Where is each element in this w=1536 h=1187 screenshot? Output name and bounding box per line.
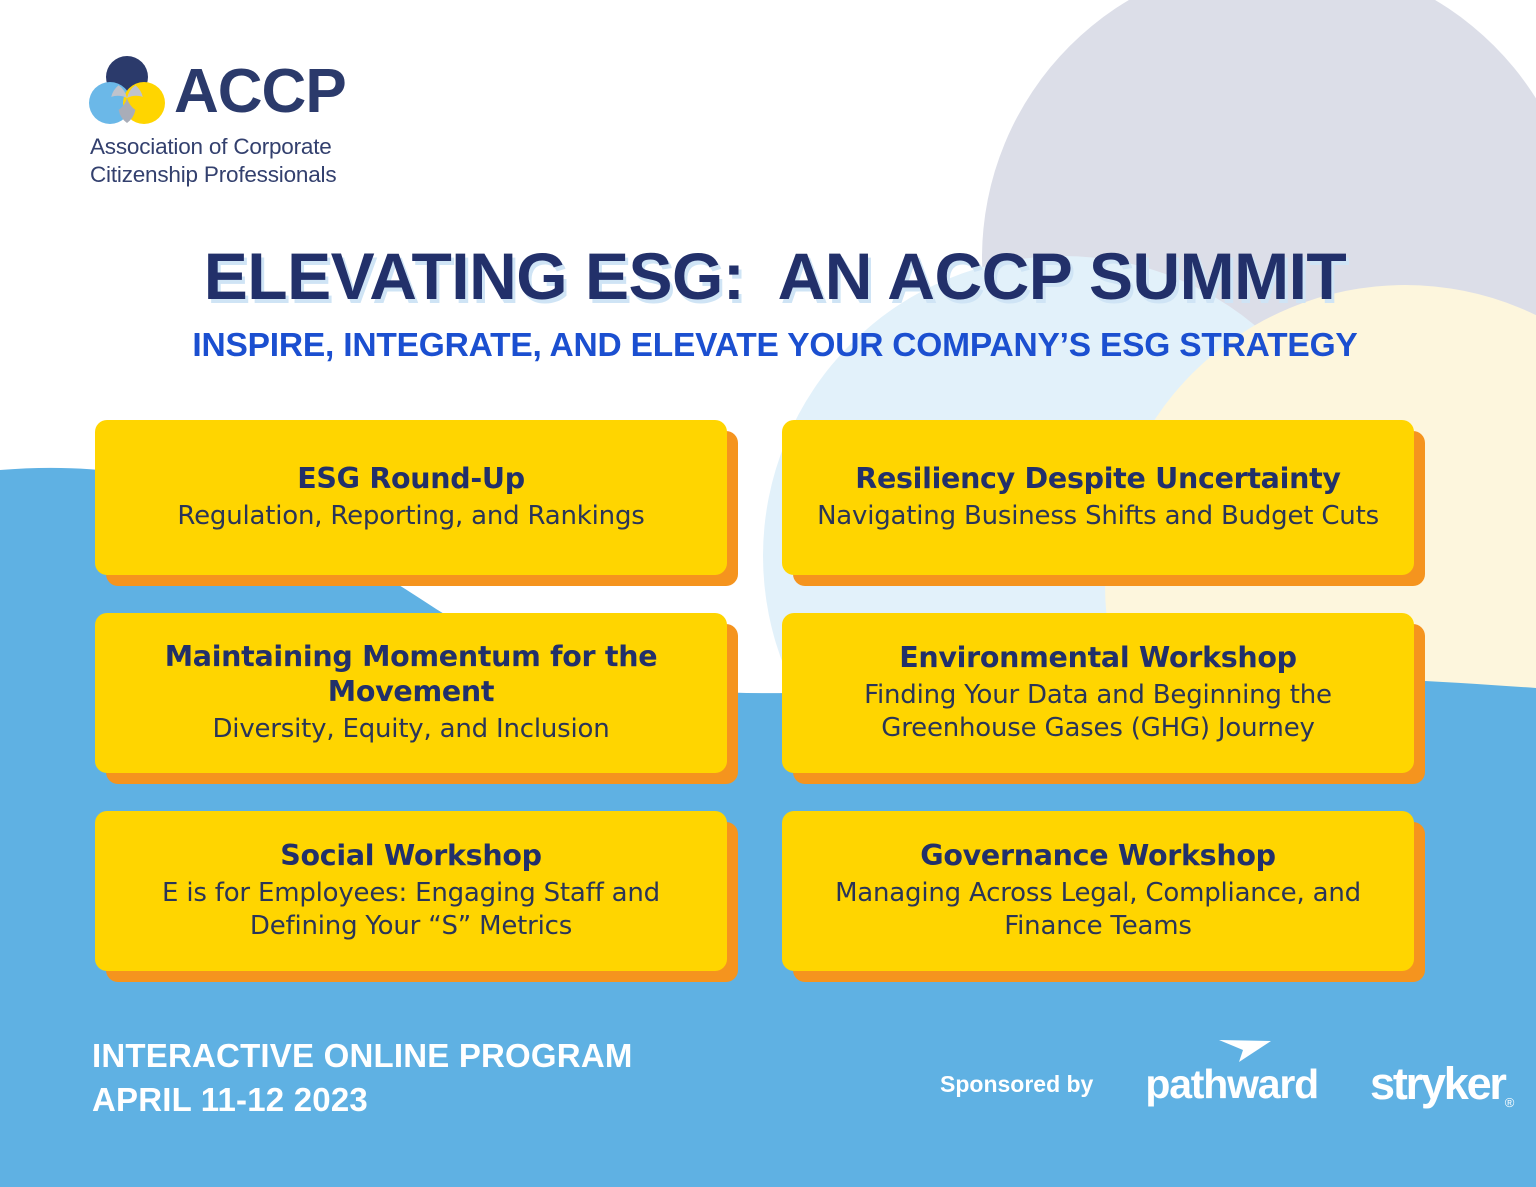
session-card-slot: Environmental Workshop Finding Your Data… <box>782 613 1414 773</box>
program-format-label: INTERACTIVE ONLINE PROGRAM <box>92 1034 633 1078</box>
session-card-esg-round-up[interactable]: ESG Round-Up Regulation, Reporting, and … <box>95 420 727 575</box>
session-card-slot: Resiliency Despite Uncertainty Navigatin… <box>782 420 1414 575</box>
session-card-environmental-workshop[interactable]: Environmental Workshop Finding Your Data… <box>782 613 1414 773</box>
swoosh-icon <box>1217 1038 1275 1064</box>
logo-row: ACCP <box>88 55 346 129</box>
session-title: Resiliency Despite Uncertainty <box>855 462 1340 497</box>
sponsor-logo-stryker: stryker ® <box>1370 1058 1514 1110</box>
session-subtitle: Finding Your Data and Beginning the Gree… <box>808 679 1388 745</box>
event-details: INTERACTIVE ONLINE PROGRAM APRIL 11-12 2… <box>92 1034 633 1121</box>
session-card-slot: Social Workshop E is for Employees: Enga… <box>95 811 727 971</box>
sponsors-block: Sponsored by pathward stryker ® <box>940 1058 1514 1110</box>
page-subtitle: INSPIRE, INTEGRATE, AND ELEVATE YOUR COM… <box>0 327 1536 365</box>
session-subtitle: Navigating Business Shifts and Budget Cu… <box>817 500 1379 533</box>
session-card-social-workshop[interactable]: Social Workshop E is for Employees: Enga… <box>95 811 727 971</box>
session-title: Governance Workshop <box>920 839 1275 874</box>
logo-tagline-line-2: Citizenship Professionals <box>90 161 346 189</box>
session-title: Environmental Workshop <box>899 641 1297 676</box>
session-subtitle: Managing Across Legal, Compliance, and F… <box>808 877 1388 943</box>
session-card-maintaining-momentum[interactable]: Maintaining Momentum for the Movement Di… <box>95 613 727 773</box>
session-card-governance-workshop[interactable]: Governance Workshop Managing Across Lega… <box>782 811 1414 971</box>
session-card-grid: ESG Round-Up Regulation, Reporting, and … <box>95 420 1425 971</box>
session-card-resiliency-despite-uncertainty[interactable]: Resiliency Despite Uncertainty Navigatin… <box>782 420 1414 575</box>
event-dates: APRIL 11-12 2023 <box>92 1078 633 1122</box>
session-card-slot: Governance Workshop Managing Across Lega… <box>782 811 1414 971</box>
logo-tagline-line-1: Association of Corporate <box>90 133 346 161</box>
logo-wordmark: ACCP <box>174 63 346 122</box>
sponsored-by-label: Sponsored by <box>940 1071 1093 1098</box>
session-title: Social Workshop <box>280 839 541 874</box>
session-subtitle: E is for Employees: Engaging Staff and D… <box>121 877 701 943</box>
pathward-wordmark: pathward <box>1145 1061 1318 1108</box>
sponsor-logo-pathward: pathward <box>1145 1061 1318 1108</box>
registered-trademark-icon: ® <box>1505 1095 1515 1110</box>
accp-logo: ACCP Association of Corporate Citizenshi… <box>88 55 346 189</box>
session-subtitle: Regulation, Reporting, and Rankings <box>177 500 644 533</box>
logo-tagline: Association of Corporate Citizenship Pro… <box>90 133 346 189</box>
session-card-slot: Maintaining Momentum for the Movement Di… <box>95 613 727 773</box>
session-card-slot: ESG Round-Up Regulation, Reporting, and … <box>95 420 727 575</box>
accp-venn-logo-icon <box>88 55 166 129</box>
stryker-wordmark: stryker <box>1370 1058 1505 1110</box>
headline-block: ELEVATING ESG: AN ACCP SUMMIT INSPIRE, I… <box>0 238 1536 365</box>
session-title: Maintaining Momentum for the Movement <box>121 640 701 710</box>
session-subtitle: Diversity, Equity, and Inclusion <box>212 713 609 746</box>
page-title: ELEVATING ESG: AN ACCP SUMMIT <box>0 238 1536 314</box>
session-title: ESG Round-Up <box>297 462 525 497</box>
